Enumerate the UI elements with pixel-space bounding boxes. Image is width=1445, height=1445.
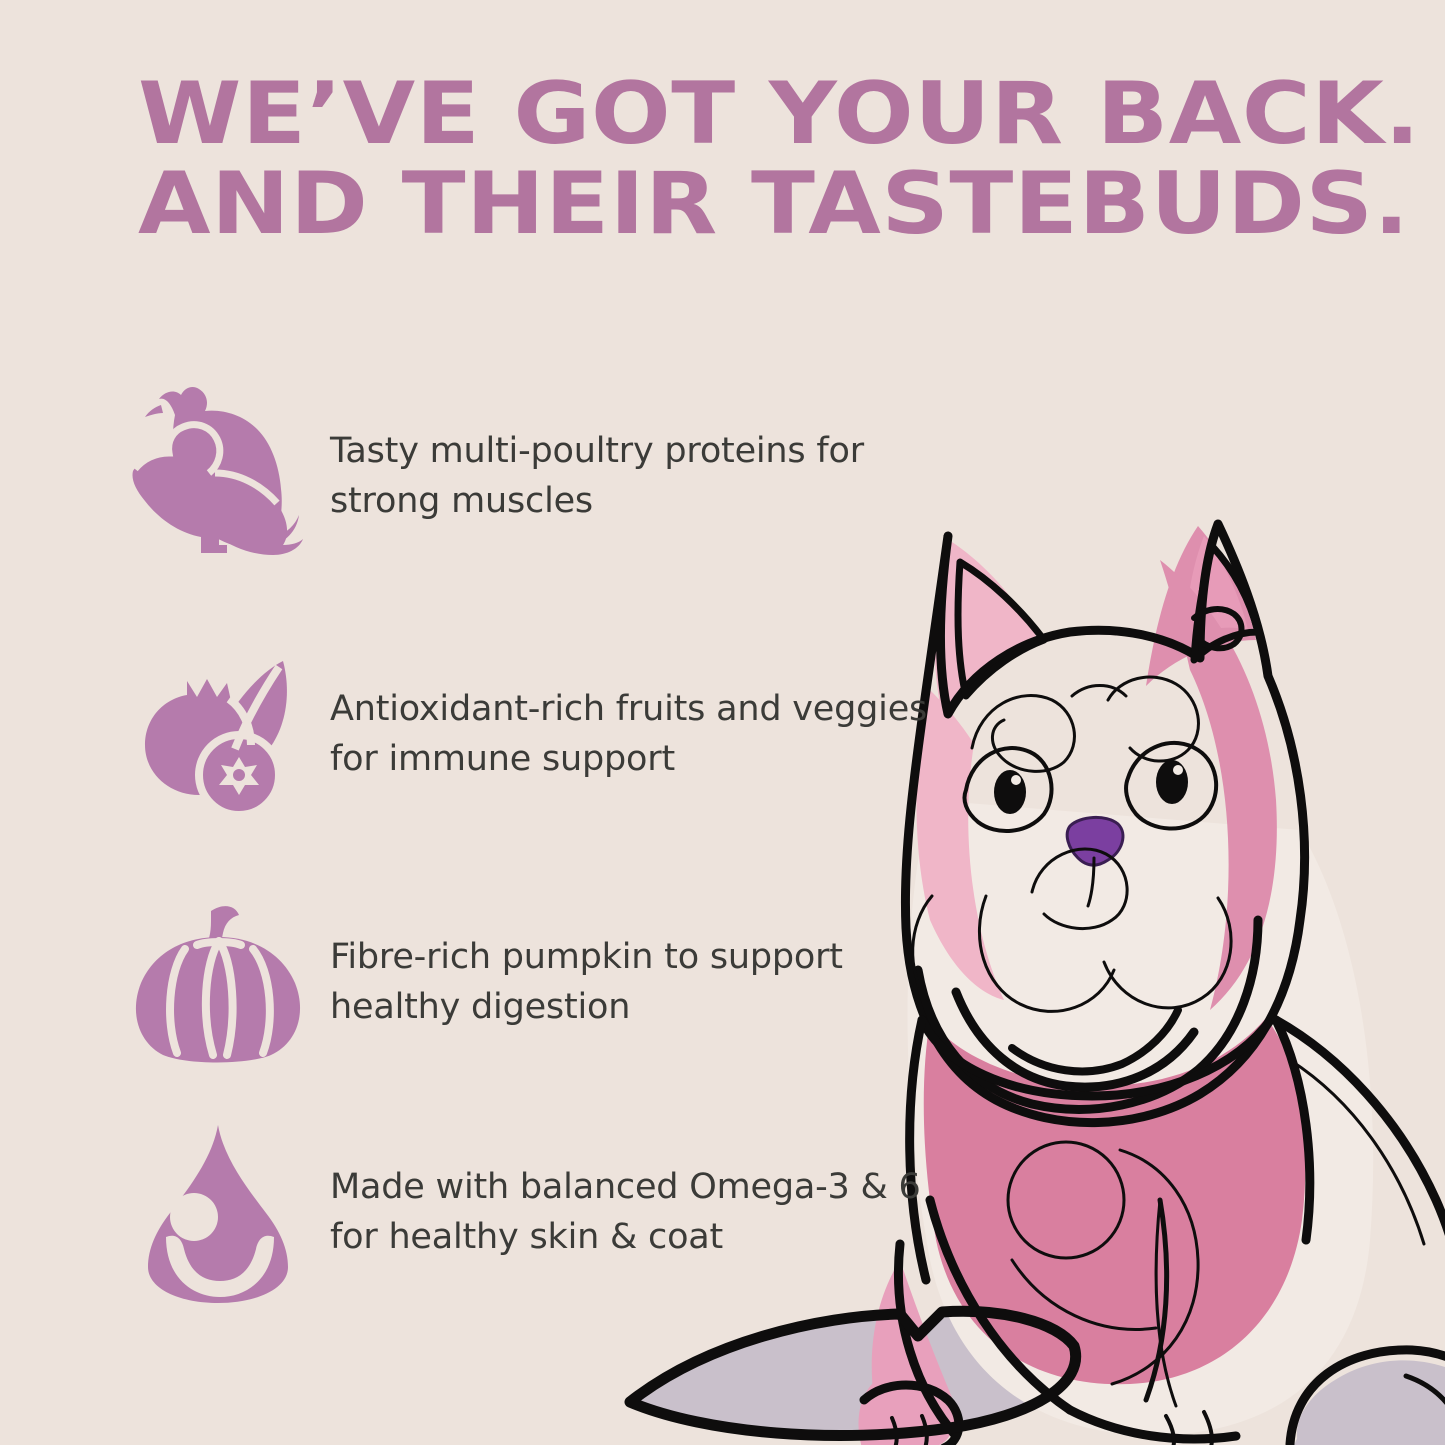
feature-text: Antioxidant-rich fruits and veggies for … bbox=[330, 685, 930, 784]
pumpkin-icon bbox=[128, 888, 308, 1078]
berries-icon bbox=[128, 640, 308, 830]
feature-list: Tasty multi-poultry proteins for strong … bbox=[0, 0, 1445, 1445]
omega-droplet-icon bbox=[128, 1118, 308, 1308]
feature-item-poultry: Tasty multi-poultry proteins for strong … bbox=[128, 382, 930, 572]
feature-text: Fibre-rich pumpkin to support healthy di… bbox=[330, 933, 930, 1032]
feature-text: Tasty multi-poultry proteins for strong … bbox=[330, 427, 930, 526]
chicken-duck-icon bbox=[128, 382, 308, 572]
feature-item-omega: Made with balanced Omega-3 & 6 for healt… bbox=[128, 1118, 930, 1308]
feature-item-antioxidants: Antioxidant-rich fruits and veggies for … bbox=[128, 640, 930, 830]
feature-text: Made with balanced Omega-3 & 6 for healt… bbox=[330, 1163, 930, 1262]
promo-banner: WE’VE GOT YOUR BACK. AND THEIR TASTEBUDS… bbox=[0, 0, 1445, 1445]
feature-item-pumpkin: Fibre-rich pumpkin to support healthy di… bbox=[128, 888, 930, 1078]
